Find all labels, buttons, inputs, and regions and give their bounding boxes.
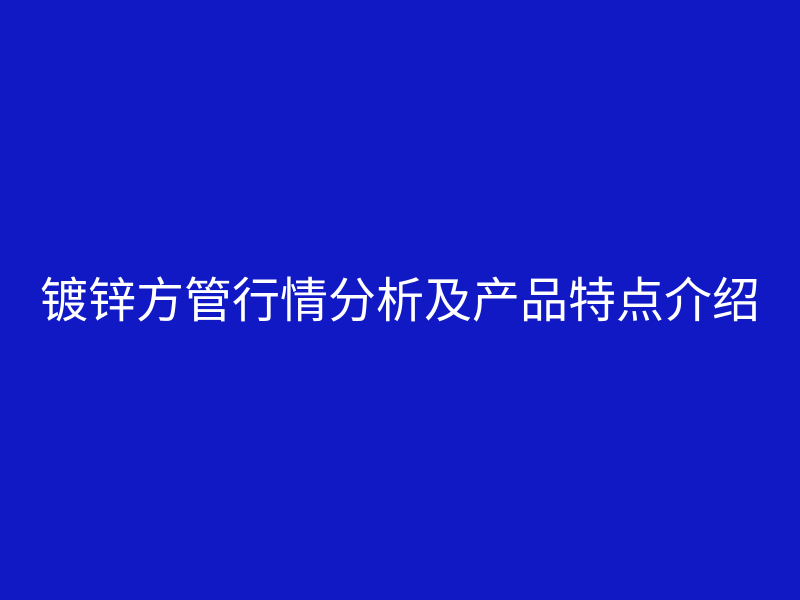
banner-canvas: 镀锌方管行情分析及产品特点介绍 xyxy=(0,0,800,600)
banner-title: 镀锌方管行情分析及产品特点介绍 xyxy=(40,277,760,325)
title-block: 镀锌方管行情分析及产品特点介绍 xyxy=(0,0,800,600)
